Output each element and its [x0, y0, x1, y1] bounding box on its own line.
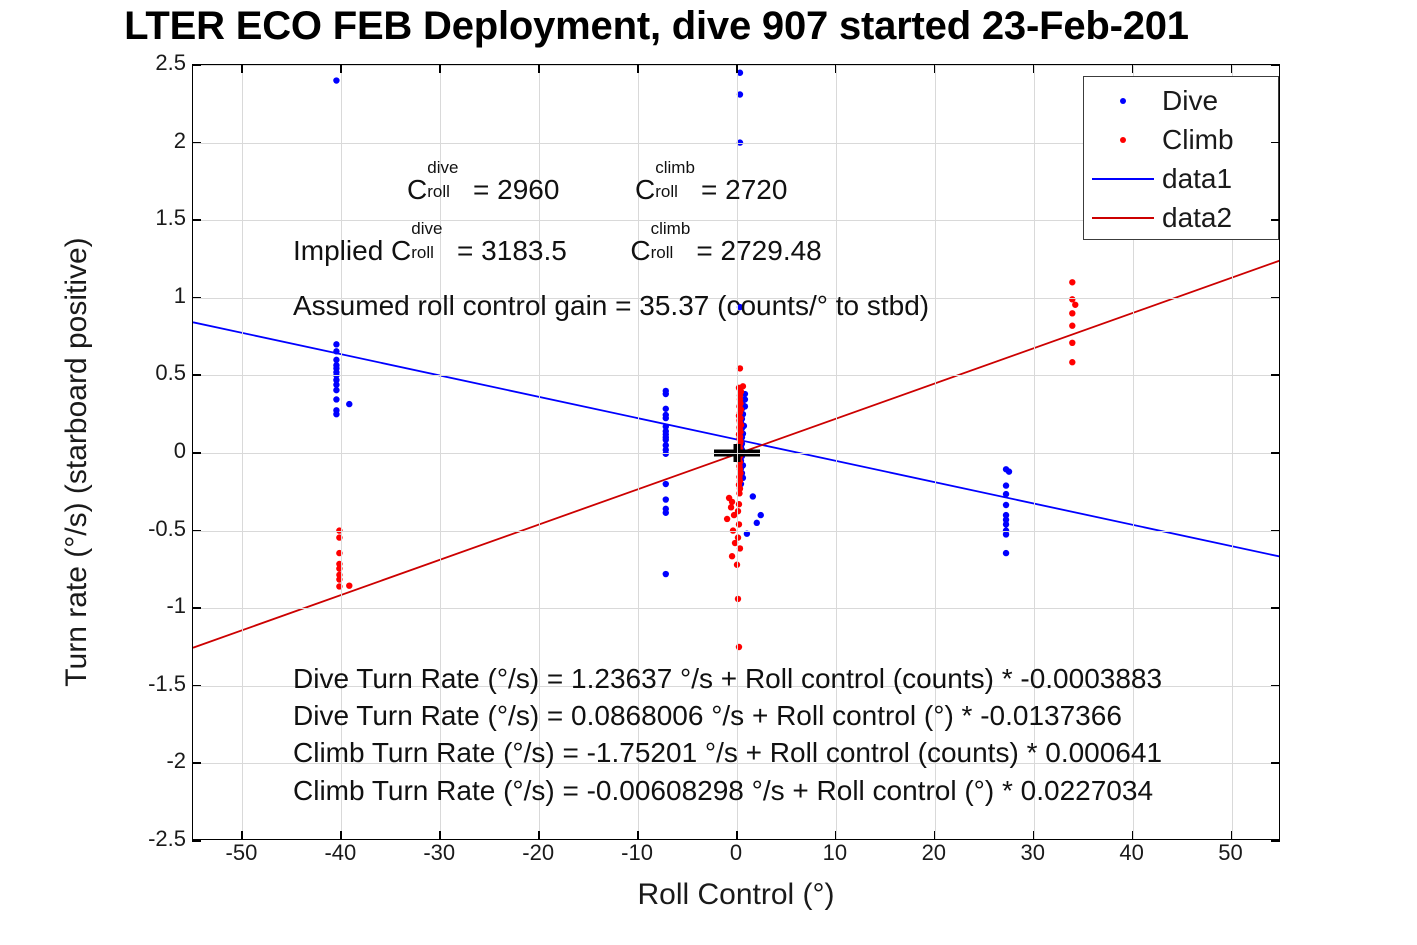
x-axis-tick	[538, 831, 540, 840]
equation-climb-counts: Climb Turn Rate (°/s) = -1.75201 °/s + R…	[293, 737, 1162, 769]
legend-marker-dot	[1084, 137, 1162, 143]
y-axis-tick	[192, 142, 201, 144]
chart-title: LTER ECO FEB Deployment, dive 907 starte…	[0, 2, 1417, 50]
legend-item-data1[interactable]: data1	[1084, 159, 1278, 198]
equation-climb-deg: Climb Turn Rate (°/s) = -0.00608298 °/s …	[293, 775, 1153, 807]
data-point-dive	[346, 401, 352, 407]
equation-dive-counts: Dive Turn Rate (°/s) = 1.23637 °/s + Rol…	[293, 663, 1162, 695]
x-axis-tick	[835, 64, 837, 73]
y-axis-title: Turn rate (°/s) (starboard positive)	[60, 67, 94, 857]
legend-label: data1	[1162, 165, 1232, 193]
data-point-dive	[333, 396, 339, 402]
data-point-dive	[663, 406, 669, 412]
legend-item-data2[interactable]: data2	[1084, 198, 1278, 237]
y-axis-tick-label: -1.5	[108, 671, 186, 697]
x-axis-tick-label: -10	[597, 840, 677, 866]
data-point-climb	[346, 582, 352, 588]
legend: DiveClimbdata1data2	[1083, 76, 1279, 240]
gridline-horizontal	[193, 453, 1279, 454]
x-axis-tick	[934, 64, 936, 73]
data-point-climb	[1069, 340, 1075, 346]
x-axis-tick	[340, 831, 342, 840]
y-axis-tick	[1271, 840, 1280, 842]
y-axis-tick	[1271, 530, 1280, 532]
y-axis-tick	[192, 762, 201, 764]
data-point-dive	[333, 348, 339, 354]
x-axis-tick	[241, 64, 243, 73]
x-axis-tick-label: 0	[696, 840, 776, 866]
gridline-horizontal	[193, 531, 1279, 532]
x-axis-tick	[439, 831, 441, 840]
y-axis-tick	[192, 840, 201, 842]
data-point-climb	[724, 516, 730, 522]
y-axis-tick	[1271, 374, 1280, 376]
gridline-vertical	[242, 65, 243, 839]
x-axis-tick	[439, 64, 441, 73]
x-axis-tick	[1033, 831, 1035, 840]
y-axis-tick-label: 2	[108, 128, 186, 154]
data-point-dive	[663, 496, 669, 502]
gridline-horizontal	[193, 608, 1279, 609]
x-axis-tick-label: 10	[795, 840, 875, 866]
legend-item-dive[interactable]: Dive	[1084, 81, 1278, 120]
y-axis-tick-label: -2	[108, 748, 186, 774]
x-axis-tick-label: 50	[1191, 840, 1271, 866]
y-axis-tick	[1271, 685, 1280, 687]
equation-dive-deg: Dive Turn Rate (°/s) = 0.0868006 °/s + R…	[293, 700, 1122, 732]
y-axis-tick	[1271, 607, 1280, 609]
x-axis-tick	[934, 831, 936, 840]
x-axis-tick	[637, 831, 639, 840]
x-axis-tick	[637, 64, 639, 73]
data-point-dive	[758, 512, 764, 518]
data-point-dive	[663, 391, 669, 397]
data-point-climb	[1069, 279, 1075, 285]
y-axis-tick	[192, 219, 201, 221]
data-point-dive	[754, 520, 760, 526]
data-point-dive	[1003, 491, 1009, 497]
data-point-climb	[729, 499, 735, 505]
data-point-dive	[663, 510, 669, 516]
y-axis-tick	[1271, 297, 1280, 299]
data-point-dive	[1003, 521, 1009, 527]
legend-label: Climb	[1162, 126, 1234, 154]
legend-marker-line	[1084, 178, 1162, 180]
data-point-dive	[333, 387, 339, 393]
x-axis-tick	[1132, 64, 1134, 73]
data-point-dive	[663, 481, 669, 487]
y-axis-tick-label: -1	[108, 593, 186, 619]
x-axis-tick-label: -30	[399, 840, 479, 866]
annotation-croll-given: Cdiveroll = 2960 Cclimbroll = 2720	[407, 171, 787, 206]
data-point-dive	[1003, 502, 1009, 508]
y-axis-tick	[1271, 64, 1280, 66]
y-axis-tick	[1271, 142, 1280, 144]
gridline-horizontal	[193, 375, 1279, 376]
y-axis-tick	[192, 374, 201, 376]
x-axis-tick	[1033, 64, 1035, 73]
x-axis-tick-label: 30	[993, 840, 1073, 866]
data-point-dive	[1006, 468, 1012, 474]
data-point-climb	[1069, 323, 1075, 329]
data-point-climb	[728, 504, 734, 510]
x-axis-tick-label: 20	[894, 840, 974, 866]
x-axis-tick-label: -40	[300, 840, 380, 866]
y-axis-tick-label: 2.5	[108, 50, 186, 76]
data-point-dive	[333, 411, 339, 417]
y-axis-tick	[1271, 762, 1280, 764]
x-axis-tick	[736, 831, 738, 840]
legend-item-climb[interactable]: Climb	[1084, 120, 1278, 159]
legend-marker-dot	[1084, 98, 1162, 104]
x-axis-tick-label: -20	[498, 840, 578, 866]
y-axis-tick	[192, 607, 201, 609]
y-axis-tick	[192, 685, 201, 687]
annotation-croll-implied: Implied Cdiveroll = 3183.5 Cclimbroll = …	[293, 232, 822, 267]
y-axis-tick-label: 0	[108, 438, 186, 464]
y-axis-tick	[192, 452, 201, 454]
data-point-climb	[1069, 359, 1075, 365]
y-axis-tick-label: 0.5	[108, 360, 186, 386]
data-point-climb	[729, 553, 735, 559]
data-point-climb	[1069, 310, 1075, 316]
y-axis-tick	[192, 64, 201, 66]
legend-label: Dive	[1162, 87, 1218, 115]
data-point-dive	[333, 341, 339, 347]
data-point-dive	[1003, 550, 1009, 556]
data-point-dive	[750, 493, 756, 499]
data-point-dive	[333, 77, 339, 83]
x-axis-tick-label: -50	[201, 840, 281, 866]
y-axis-tick	[192, 297, 201, 299]
y-axis-tick-label: -0.5	[108, 516, 186, 542]
data-point-dive	[663, 571, 669, 577]
y-axis-tick	[1271, 452, 1280, 454]
data-point-dive	[663, 415, 669, 421]
x-axis-tick	[1231, 831, 1233, 840]
x-axis-tick	[736, 64, 738, 73]
x-axis-tick	[241, 831, 243, 840]
legend-marker-line	[1084, 217, 1162, 219]
y-axis-tick	[192, 530, 201, 532]
annotation-roll-gain: Assumed roll control gain = 35.37 (count…	[293, 290, 929, 322]
data-point-climb	[1072, 302, 1078, 308]
x-axis-title: Roll Control (°)	[192, 878, 1280, 912]
x-axis-tick-label: 40	[1092, 840, 1172, 866]
y-axis-tick-label: 1.5	[108, 205, 186, 231]
x-axis-tick	[1132, 831, 1134, 840]
y-axis-tick-label: 1	[108, 283, 186, 309]
y-axis-tick-label: -2.5	[108, 826, 186, 852]
x-axis-tick	[835, 831, 837, 840]
legend-label: data2	[1162, 204, 1232, 232]
data-point-dive	[1003, 531, 1009, 537]
x-axis-tick	[340, 64, 342, 73]
x-axis-tick	[538, 64, 540, 73]
y-axis-tick	[1271, 219, 1280, 221]
data-point-dive	[1003, 482, 1009, 488]
x-axis-tick	[1231, 64, 1233, 73]
